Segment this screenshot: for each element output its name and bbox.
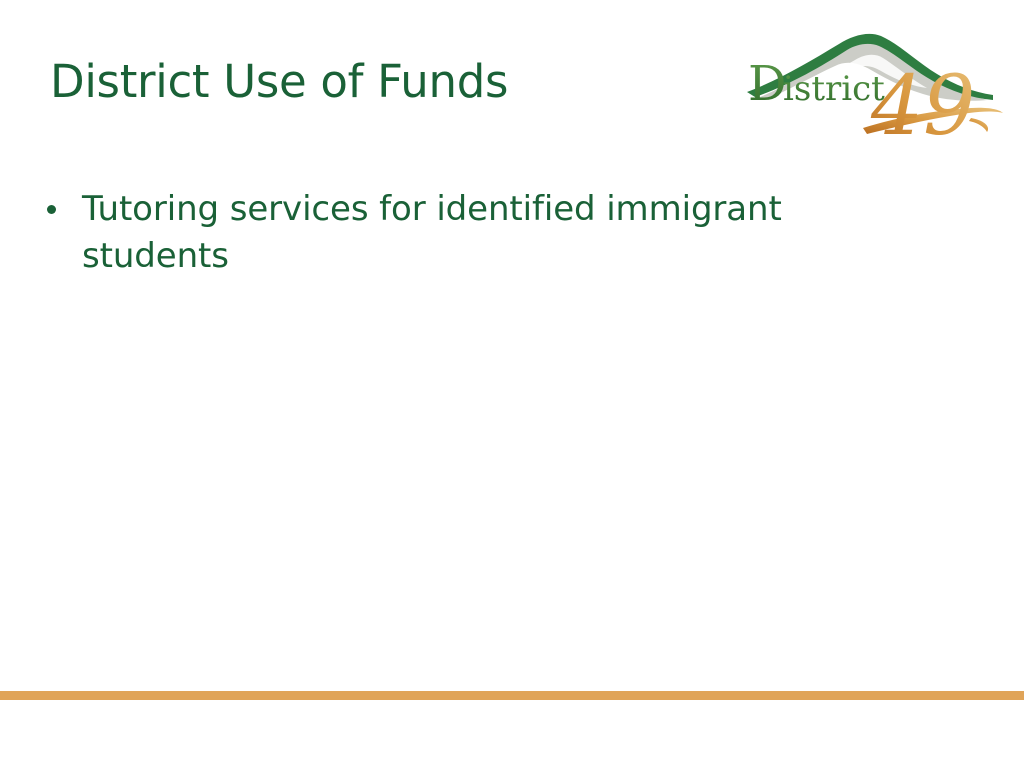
district-49-logo: District 49: [735, 22, 1010, 142]
page-title: District Use of Funds: [50, 58, 710, 105]
bullet-point-icon: [47, 205, 56, 214]
svg-text:D: D: [748, 56, 786, 112]
svg-text:49: 49: [870, 59, 975, 142]
bullet-list: Tutoring services for identified immigra…: [44, 186, 834, 280]
svg-text:istrict: istrict: [783, 69, 885, 109]
slide: District Use of Funds District 49: [0, 0, 1024, 768]
footer-accent-bar: [0, 691, 1024, 700]
logo-number: 49: [870, 59, 988, 142]
list-item-label: Tutoring services for identified immigra…: [82, 189, 782, 276]
list-item: Tutoring services for identified immigra…: [44, 186, 834, 280]
